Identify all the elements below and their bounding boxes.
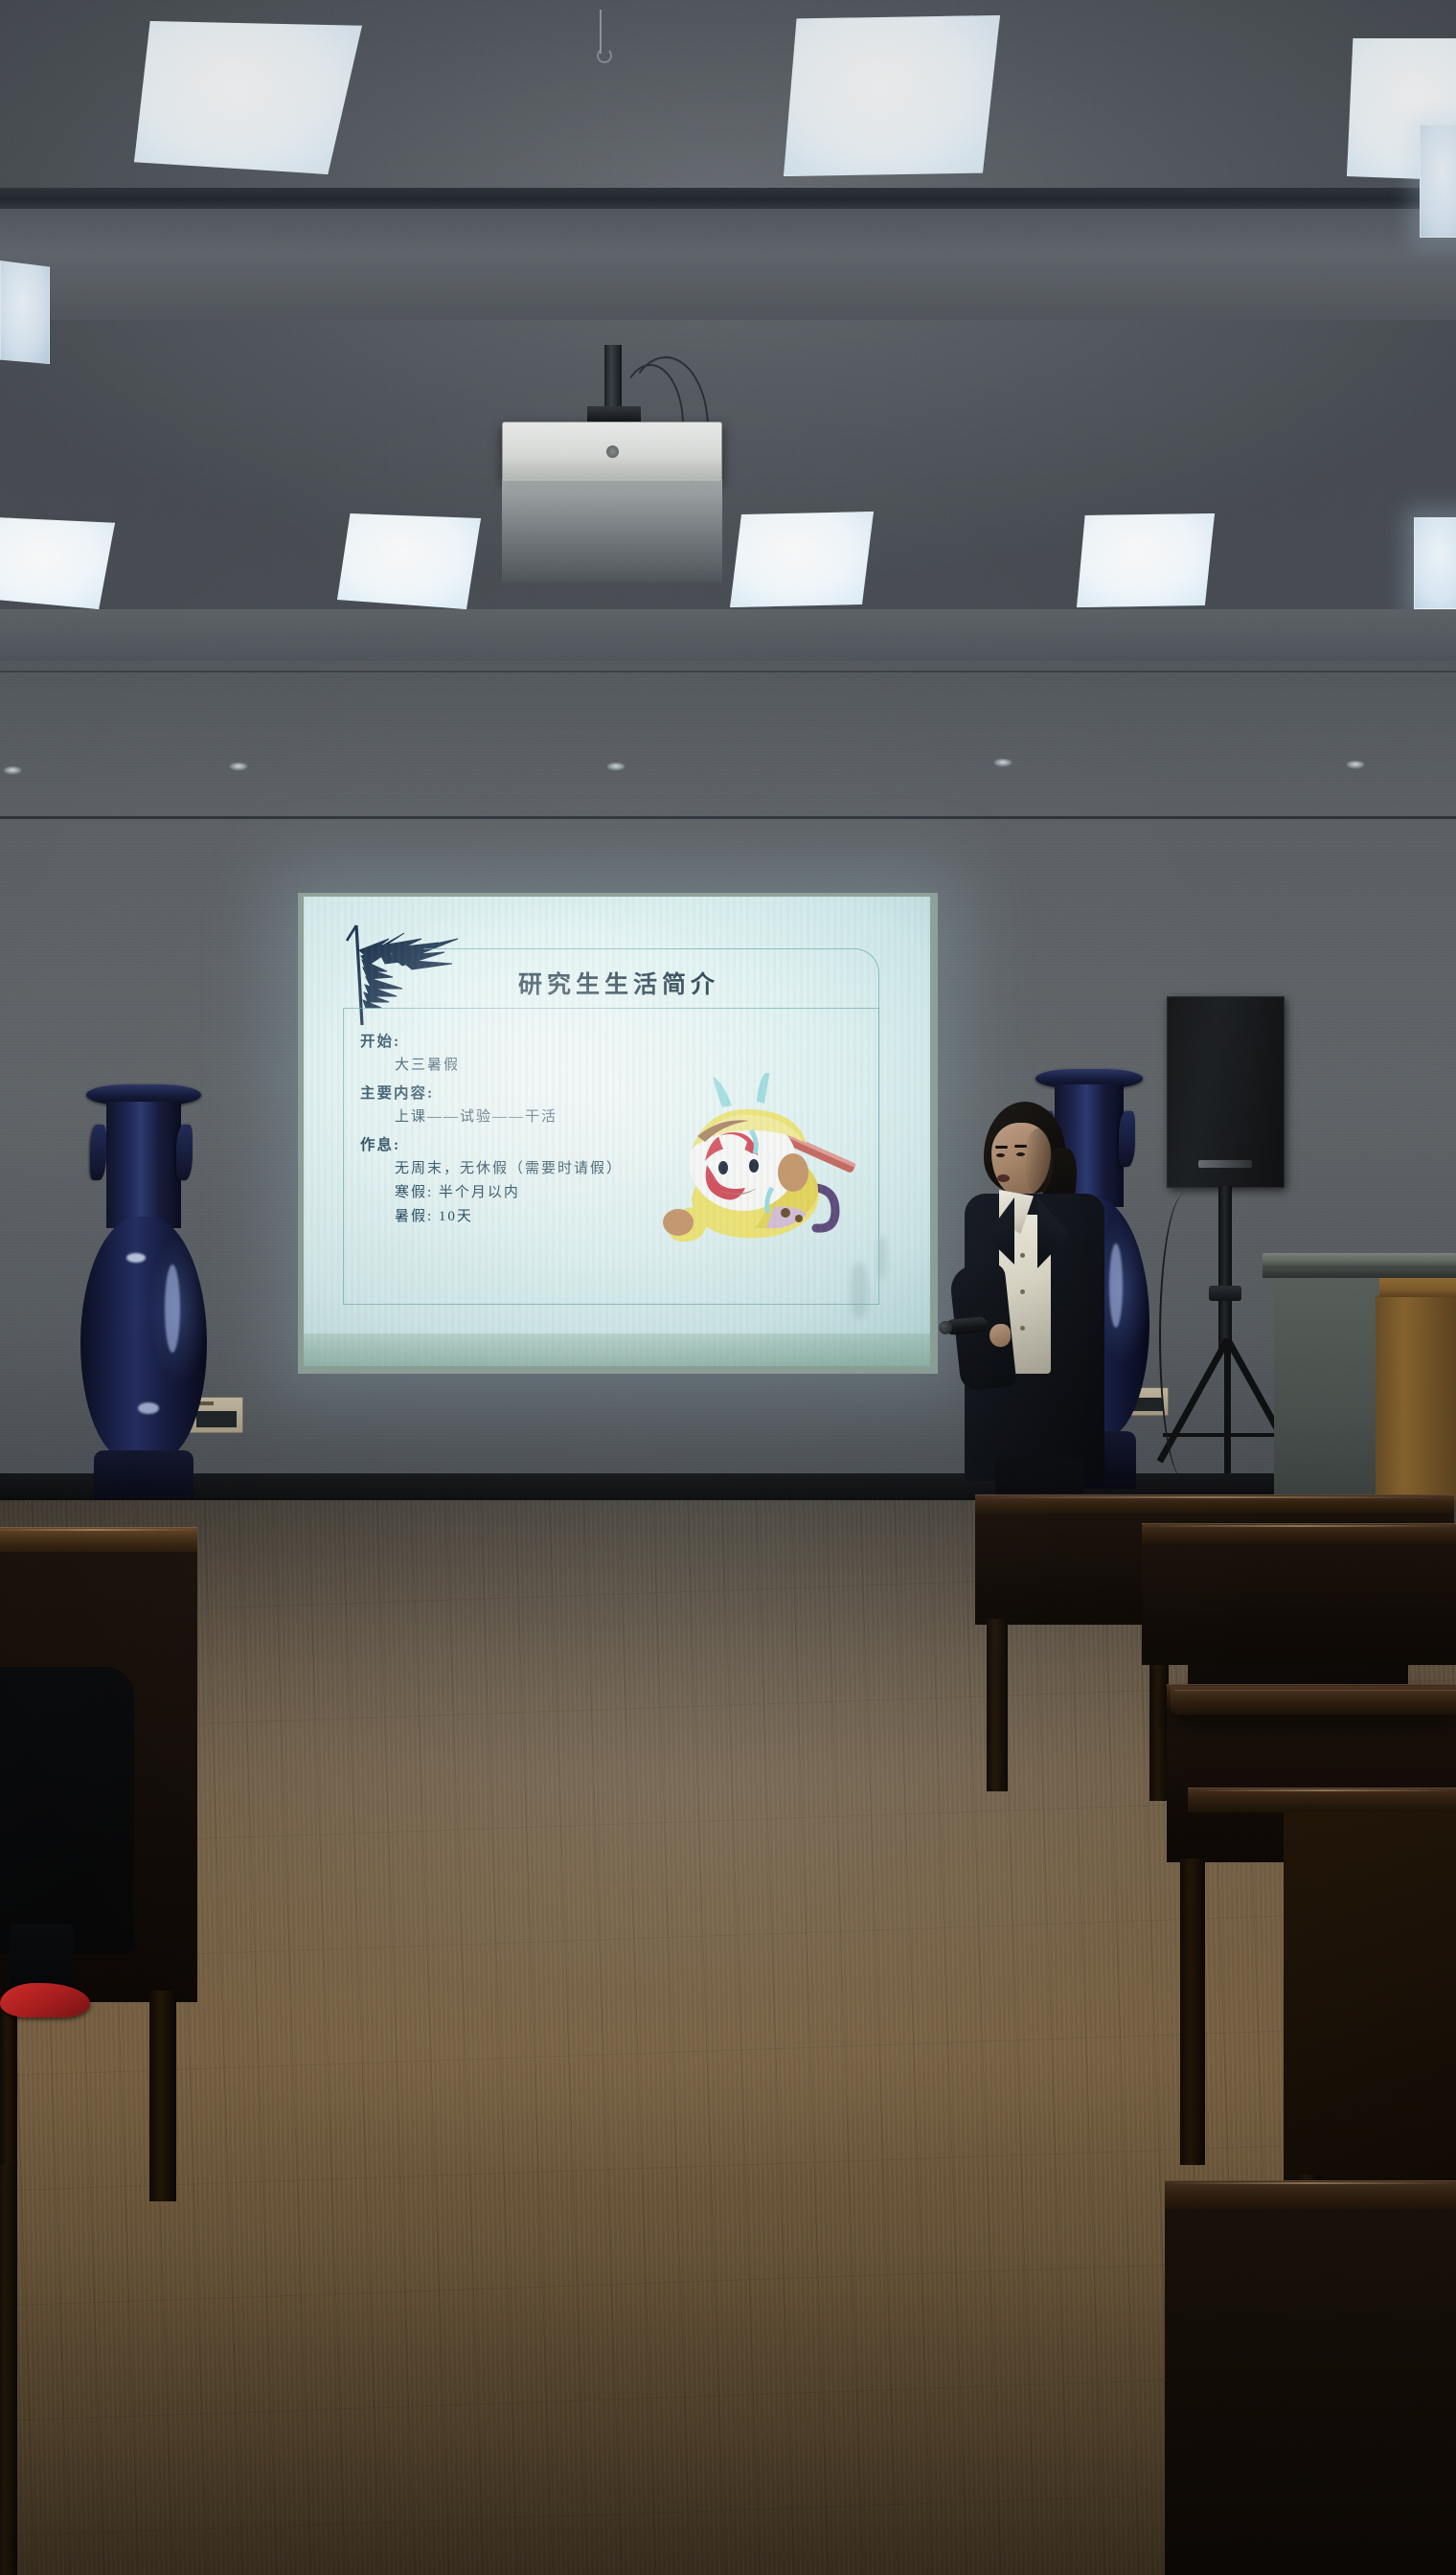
ceiling-soffit-face (0, 209, 1456, 320)
vase-highlight (138, 1402, 159, 1414)
shirt-button (1020, 1326, 1025, 1331)
slide-heading: 开始: (360, 1035, 772, 1050)
monkey-king-mascot-icon (659, 1073, 860, 1255)
presenter-face-shadow (1024, 1128, 1053, 1196)
vase-handle (90, 1125, 106, 1180)
ceiling-light-panel (0, 261, 50, 364)
desk-edge-highlight (1165, 2182, 1456, 2184)
lecture-hall-photo: 研究生生活简介 开始: 大三暑假 主要内容: 上课——试验——干活 作息: 无周… (0, 0, 1456, 2575)
desk-edge-highlight (0, 1529, 197, 1531)
desk-leg (149, 1991, 176, 2201)
vase-highlight (126, 1253, 146, 1263)
speaker-stand-leg (1224, 1339, 1231, 1473)
screen-smudge (851, 1263, 868, 1318)
desk-edge-highlight (975, 1496, 1454, 1498)
desk-front-foreground-top[interactable] (1174, 1690, 1456, 1715)
screen-bottom-edge (304, 1333, 930, 1366)
presenter-eyebrow (1014, 1145, 1027, 1148)
wall-seam (0, 671, 1456, 672)
recessed-downlight-icon (228, 763, 249, 771)
recessed-downlight-icon (605, 763, 626, 771)
shirt-button (1020, 1253, 1025, 1258)
speaker-stand-clamp[interactable] (1209, 1286, 1241, 1301)
shirt-button (1020, 1289, 1025, 1294)
ceiling-light-panel (0, 517, 115, 609)
speaker-brand-logo (1198, 1160, 1252, 1168)
vase-body (80, 1217, 207, 1460)
slide-content: 研究生生活简介 开始: 大三暑假 主要内容: 上课——试验——干活 作息: 无周… (322, 912, 916, 1345)
desk-leg (1180, 1858, 1205, 2165)
ceiling-light-panel (1420, 125, 1456, 238)
ceiling-light-panel (730, 512, 874, 607)
ceiling-light-panel (1414, 517, 1456, 609)
lectern[interactable] (1263, 1253, 1456, 1268)
presenter (944, 1102, 1154, 1514)
desk-bottom-right-front (1165, 2209, 1456, 2575)
recessed-downlight-icon (992, 759, 1013, 767)
recessed-downlight-icon (1345, 761, 1366, 769)
desk-bottom-right-top[interactable] (1165, 2180, 1456, 2213)
ceiling-light-panel (337, 513, 481, 609)
attendee-shoe (0, 1983, 90, 2017)
desk-edge-highlight (1142, 1525, 1456, 1527)
desk-leg (987, 1619, 1008, 1791)
presenter-eye (996, 1153, 1005, 1157)
presenter-mouth (997, 1174, 1010, 1182)
desk-right-mid-front (1142, 1544, 1456, 1665)
ceiling-light-panel (1077, 513, 1215, 607)
presenter-hand (990, 1324, 1011, 1347)
slide-title: 研究生生活简介 (322, 966, 916, 1000)
wall-seam (0, 816, 1456, 819)
vase-neck (106, 1102, 181, 1228)
attendee-torso (0, 1667, 134, 1954)
floor-vase-left (67, 1084, 220, 1510)
desk-foreground-mass (1284, 1795, 1456, 2198)
ceiling-hook-icon (600, 10, 611, 54)
pa-speaker (1167, 996, 1285, 1188)
desk-edge-highlight (1188, 1789, 1456, 1791)
presenter-eye (1016, 1152, 1025, 1156)
lectern-panel (1274, 1278, 1379, 1504)
vase-highlight (165, 1265, 180, 1353)
slide-line: 大三暑假 (360, 1059, 772, 1074)
vase-foot (94, 1450, 193, 1506)
vase-handle (176, 1125, 193, 1180)
speaker-cable (1159, 1194, 1211, 1481)
ceiling-light-panel (784, 15, 1000, 176)
seated-attendee-left (0, 1667, 144, 2021)
projector-bracket (587, 406, 641, 422)
recessed-downlight-icon (2, 766, 23, 775)
projector-shadow (502, 479, 722, 582)
foreground-post (0, 2165, 17, 2575)
speaker-stand-pole (1218, 1186, 1232, 1351)
projector (502, 422, 722, 481)
lectern-body (1376, 1295, 1456, 1504)
ceiling-light-panel (134, 21, 362, 174)
screen-smudge (877, 1236, 887, 1280)
presenter-eyebrow (995, 1146, 1008, 1149)
